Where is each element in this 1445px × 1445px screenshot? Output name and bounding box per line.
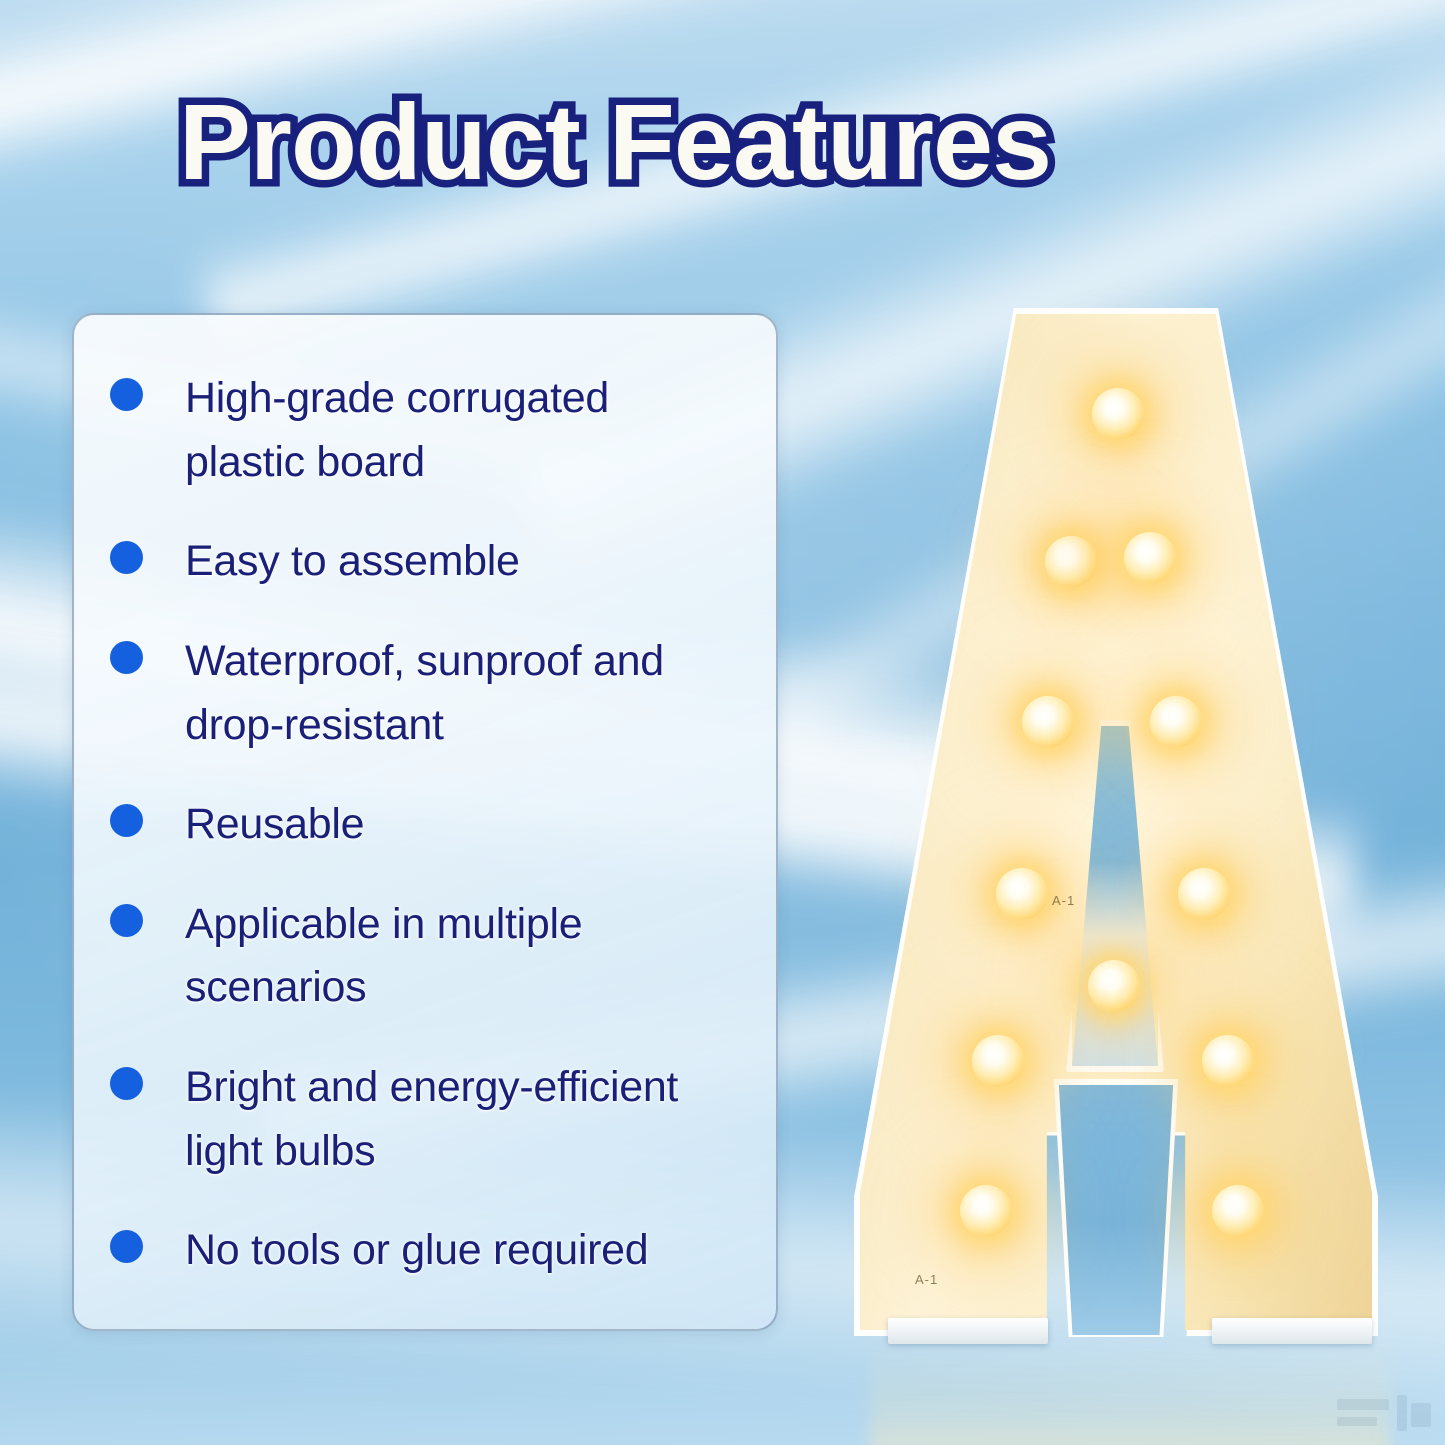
list-item: High-grade corrugated plastic board	[110, 367, 750, 494]
page-title: Product Features	[0, 88, 1230, 196]
led-bulb-icon	[960, 1185, 1012, 1237]
feature-list: High-grade corrugated plastic board Easy…	[110, 367, 750, 1283]
list-item: Reusable	[110, 793, 750, 857]
part-code-label: A-1	[1052, 893, 1075, 908]
led-bulb-icon	[1178, 868, 1230, 920]
bullet-dot-icon	[110, 541, 143, 574]
list-item: Applicable in multiple scenarios	[110, 893, 750, 1020]
letter-foot-left	[888, 1318, 1048, 1344]
led-bulb-icon	[972, 1035, 1024, 1087]
list-item: No tools or glue required	[110, 1219, 750, 1283]
product-feature-slide: Product Features High-grade corrugated p…	[0, 0, 1445, 1445]
feature-label: Easy to assemble	[185, 530, 520, 594]
bullet-dot-icon	[110, 904, 143, 937]
bullet-dot-icon	[110, 1067, 143, 1100]
bullet-dot-icon	[110, 1230, 143, 1263]
led-bulb-icon	[1202, 1035, 1254, 1087]
marquee-letter-a-icon	[860, 300, 1400, 1360]
bullet-dot-icon	[110, 641, 143, 674]
product-reflection	[870, 1345, 1390, 1445]
led-bulb-icon	[1092, 388, 1144, 440]
feature-label: Reusable	[185, 793, 364, 857]
led-bulb-icon	[1124, 532, 1176, 584]
led-bulb-icon	[996, 868, 1048, 920]
bullet-dot-icon	[110, 378, 143, 411]
led-bulb-icon	[1150, 696, 1202, 748]
feature-label: Bright and energy-efficient light bulbs	[185, 1056, 725, 1183]
feature-label: No tools or glue required	[185, 1219, 648, 1283]
list-item: Waterproof, sunproof and drop-resistant	[110, 630, 750, 757]
feature-list-card: High-grade corrugated plastic board Easy…	[72, 313, 778, 1331]
brand-watermark-icon	[1337, 1391, 1433, 1435]
led-bulb-icon	[1212, 1185, 1264, 1237]
led-bulb-icon	[1088, 960, 1140, 1012]
led-bulb-icon	[1022, 696, 1074, 748]
letter-foot-right	[1212, 1318, 1372, 1344]
feature-label: Waterproof, sunproof and drop-resistant	[185, 630, 725, 757]
bullet-dot-icon	[110, 804, 143, 837]
feature-label: High-grade corrugated plastic board	[185, 367, 725, 494]
list-item: Easy to assemble	[110, 530, 750, 594]
part-code-label: A-1	[915, 1272, 938, 1287]
product-image-marquee-letter	[860, 300, 1400, 1360]
list-item: Bright and energy-efficient light bulbs	[110, 1056, 750, 1183]
feature-label: Applicable in multiple scenarios	[185, 893, 725, 1020]
led-bulb-icon	[1045, 536, 1097, 588]
